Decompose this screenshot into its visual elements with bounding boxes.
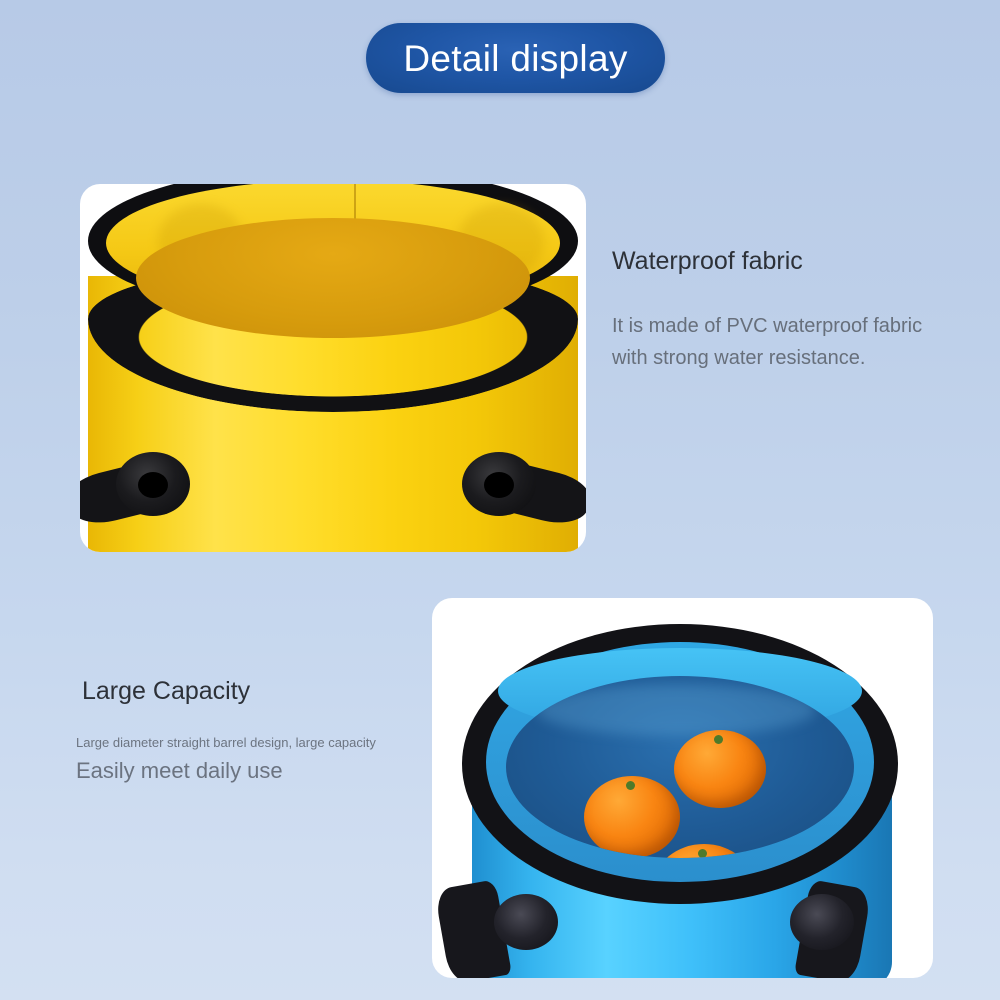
blue-bucket-handle-grommet-left <box>494 894 558 950</box>
large-capacity-heading: Large Capacity <box>76 676 416 706</box>
water-sheen <box>536 684 816 736</box>
orange-2 <box>584 776 680 858</box>
orange-1 <box>674 730 766 808</box>
waterproof-fabric-body: It is made of PVC waterproof fabric with… <box>612 310 942 374</box>
large-capacity-text-block: Large Capacity Large diameter straight b… <box>76 676 416 786</box>
waterproof-fabric-text-block: Waterproof fabric It is made of PVC wate… <box>612 246 942 374</box>
yellow-bucket-floor <box>136 218 530 338</box>
detail-display-badge: Detail display <box>366 23 665 93</box>
blue-folding-bucket-with-fruit-photo <box>432 598 933 978</box>
large-capacity-photo-card <box>432 598 933 978</box>
blue-bucket-water <box>506 676 854 858</box>
waterproof-fabric-heading: Waterproof fabric <box>612 246 942 276</box>
large-capacity-body: Easily meet daily use <box>76 755 416 786</box>
yellow-bucket-handle-grommet-right <box>462 452 536 516</box>
large-capacity-caption: Large diameter straight barrel design, l… <box>76 734 416 751</box>
blue-bucket-handle-grommet-right <box>790 894 854 950</box>
yellow-folding-bucket-photo <box>80 184 586 552</box>
yellow-bucket-handle-grommet-left <box>116 452 190 516</box>
product-detail-page: Detail display Waterproof fabric It is m… <box>0 0 1000 1000</box>
waterproof-fabric-photo-card <box>80 184 586 552</box>
detail-display-badge-label: Detail display <box>403 40 627 77</box>
